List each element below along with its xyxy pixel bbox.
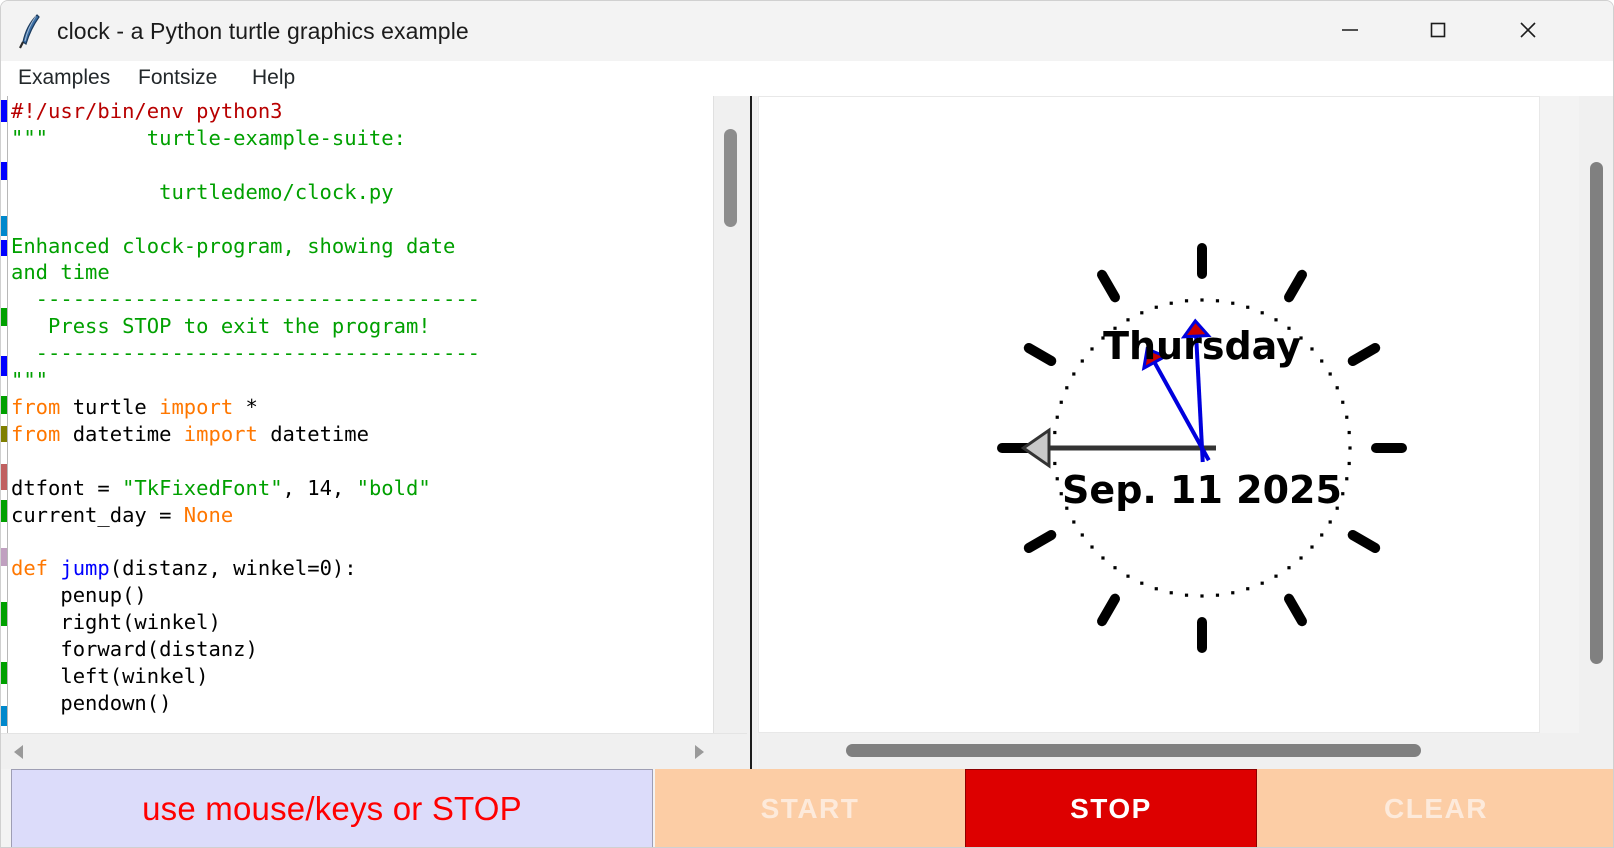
- code-line: [11, 448, 713, 475]
- menu-item-help[interactable]: Help: [252, 66, 295, 90]
- clock-hour-mark: [1353, 535, 1376, 548]
- code-token: *: [233, 395, 258, 419]
- code-token: ------------------------------------: [11, 287, 480, 311]
- clock-hour-mark: [1289, 599, 1302, 622]
- clock-minute-mark: [1246, 306, 1249, 309]
- code-token: penup(): [11, 583, 147, 607]
- clock-minute-mark: [1348, 431, 1351, 434]
- code-token: ------------------------------------: [11, 341, 480, 365]
- code-line: current_day = None: [11, 502, 713, 529]
- clock-minute-mark: [1320, 359, 1323, 362]
- code-token: turtle: [60, 395, 159, 419]
- code-vertical-scrollbar-thumb[interactable]: [724, 129, 737, 227]
- clock-minute-mark: [1140, 582, 1143, 585]
- code-token: "TkFixedFont": [122, 476, 282, 500]
- turtle-canvas-frame[interactable]: Thursday Sep. 11 2025: [758, 96, 1540, 733]
- code-line: def jump(distanz, winkel=0):: [11, 555, 713, 582]
- code-editor[interactable]: #!/usr/bin/env python3""" turtle-example…: [9, 96, 713, 733]
- code-token: forward(distanz): [11, 637, 258, 661]
- splitter-handle[interactable]: [750, 96, 752, 769]
- code-token: and time: [11, 260, 110, 284]
- code-line: Enhanced clock-program, showing date: [11, 233, 713, 260]
- clock-minute-mark: [1231, 591, 1234, 594]
- code-line: """: [11, 367, 713, 394]
- minimize-icon[interactable]: [1319, 1, 1381, 59]
- code-token: Press STOP to exit the program!: [11, 314, 431, 338]
- gutter-mark: [1, 500, 7, 522]
- code-token: import: [184, 422, 258, 446]
- clock-minute-mark: [1274, 575, 1277, 578]
- clock-minute-mark: [1200, 594, 1203, 597]
- clock-hour-mark: [1289, 275, 1302, 298]
- clock-second-hand-tip: [1023, 430, 1049, 466]
- clock-minute-mark: [1060, 401, 1063, 404]
- code-token: from: [11, 395, 60, 419]
- clock-minute-mark: [1155, 306, 1158, 309]
- python-feather-icon: [15, 13, 47, 49]
- menu-item-fontsize[interactable]: Fontsize: [138, 66, 217, 90]
- canvas-vertical-scrollbar[interactable]: [1579, 96, 1614, 733]
- code-token: import: [159, 395, 233, 419]
- title-bar: clock - a Python turtle graphics example: [1, 1, 1614, 61]
- clock-weekday-label: Thursday: [1103, 324, 1301, 368]
- canvas-horizontal-scrollbar[interactable]: [758, 733, 1614, 769]
- code-gutter-strip: [1, 96, 8, 733]
- code-token: datetime: [60, 422, 183, 446]
- code-line: forward(distanz): [11, 636, 713, 663]
- gutter-mark: [1, 464, 7, 490]
- clock-minute-mark: [1246, 587, 1249, 590]
- clock-minute-mark: [1348, 462, 1351, 465]
- code-line: pendown(): [11, 690, 713, 717]
- code-vertical-scrollbar[interactable]: [713, 96, 747, 733]
- code-token: #!/usr/bin/env python3: [11, 99, 283, 123]
- gutter-mark: [1, 706, 7, 726]
- status-bar: use mouse/keys or STOP: [11, 769, 653, 848]
- clock-minute-mark: [1126, 318, 1129, 321]
- clock-minute-mark: [1113, 566, 1116, 569]
- clock-minute-mark: [1053, 431, 1056, 434]
- gutter-mark: [1, 396, 7, 414]
- clock-minute-mark: [1155, 587, 1158, 590]
- status-message: use mouse/keys or STOP: [142, 790, 522, 828]
- clock-minute-mark: [1170, 591, 1173, 594]
- code-line: from datetime import datetime: [11, 421, 713, 448]
- clock-minute-mark: [1261, 582, 1264, 585]
- code-token: """: [11, 368, 48, 392]
- code-token: right(winkel): [11, 610, 221, 634]
- clock-minute-mark: [1126, 575, 1129, 578]
- code-line: ------------------------------------: [11, 340, 713, 367]
- clock-minute-mark: [1185, 594, 1188, 597]
- gutter-mark: [1, 548, 7, 566]
- clock-minute-mark: [1320, 533, 1323, 536]
- code-line: """ turtle-example-suite:: [11, 125, 713, 152]
- clock-minute-mark: [1310, 347, 1313, 350]
- clock-minute-mark: [1345, 477, 1348, 480]
- clock-hour-mark: [1353, 348, 1376, 361]
- code-line: from turtle import *: [11, 394, 713, 421]
- source-code-text: #!/usr/bin/env python3""" turtle-example…: [9, 96, 713, 717]
- clock-minute-mark: [1216, 594, 1219, 597]
- clock-minute-mark: [1072, 520, 1075, 523]
- clear-button[interactable]: CLEAR: [1257, 769, 1614, 848]
- clock-minute-mark: [1065, 386, 1068, 389]
- clock-hour-mark: [1102, 599, 1115, 622]
- code-token: [48, 556, 60, 580]
- code-token: "bold": [357, 476, 431, 500]
- code-line: [11, 152, 713, 179]
- clock-minute-mark: [1341, 401, 1344, 404]
- code-line: [11, 206, 713, 233]
- code-line: left(winkel): [11, 663, 713, 690]
- clock-minute-mark: [1261, 311, 1264, 314]
- clock-minute-mark: [1090, 347, 1093, 350]
- code-line: and time: [11, 259, 713, 286]
- canvas-vertical-scrollbar-thumb[interactable]: [1590, 162, 1603, 664]
- gutter-mark: [1, 662, 7, 684]
- turtle-canvas[interactable]: Thursday Sep. 11 2025: [759, 97, 1539, 732]
- code-line: penup(): [11, 582, 713, 609]
- clock-date-label: Sep. 11 2025: [1062, 468, 1342, 512]
- code-token: (distanz, winkel=0):: [110, 556, 357, 580]
- code-horizontal-scrollbar[interactable]: [1, 733, 747, 769]
- gutter-mark: [1, 308, 7, 326]
- code-line: Press STOP to exit the program!: [11, 313, 713, 340]
- code-token: current_day =: [11, 503, 184, 527]
- clock-minute-mark: [1200, 298, 1203, 301]
- clock-hour-mark: [1102, 275, 1115, 298]
- clock-minute-mark: [1287, 566, 1290, 569]
- clock-minute-mark: [1216, 299, 1219, 302]
- clock-hour-mark: [1029, 535, 1052, 548]
- code-token: """ turtle-example-suite:: [11, 126, 406, 150]
- code-token: , 14,: [283, 476, 357, 500]
- clock-minute-mark: [1170, 302, 1173, 305]
- clock-minute-mark: [1056, 477, 1059, 480]
- pane-splitter[interactable]: [747, 96, 757, 769]
- maximize-icon[interactable]: [1407, 1, 1469, 59]
- code-line: turtledemo/clock.py: [11, 179, 713, 206]
- clock-minute-mark: [1185, 299, 1188, 302]
- code-token: from: [11, 422, 60, 446]
- menu-item-examples[interactable]: Examples: [18, 66, 110, 90]
- code-line: right(winkel): [11, 609, 713, 636]
- clock-minute-mark: [1081, 533, 1084, 536]
- menu-bar: [1, 61, 1614, 96]
- gutter-mark: [1, 240, 7, 256]
- code-token: def: [11, 556, 48, 580]
- code-token: None: [184, 503, 233, 527]
- code-token: datetime: [258, 422, 369, 446]
- clock-minute-mark: [1329, 520, 1332, 523]
- gutter-mark: [1, 100, 7, 122]
- code-token: turtledemo/clock.py: [11, 180, 394, 204]
- clock-minute-mark: [1090, 545, 1093, 548]
- window-title: clock - a Python turtle graphics example: [57, 18, 469, 45]
- clock-minute-mark: [1274, 318, 1277, 321]
- gutter-mark: [1, 426, 7, 442]
- gutter-mark: [1, 162, 7, 180]
- triangle-right-icon[interactable]: [689, 743, 707, 766]
- close-icon[interactable]: [1497, 1, 1559, 59]
- clock-minute-mark: [1348, 446, 1351, 449]
- clock-hour-mark: [1029, 348, 1052, 361]
- code-line: [11, 529, 713, 556]
- gutter-mark: [1, 216, 7, 236]
- clock-minute-mark: [1140, 311, 1143, 314]
- clock-minute-mark: [1081, 359, 1084, 362]
- gutter-mark: [1, 356, 7, 376]
- canvas-horizontal-scrollbar-thumb[interactable]: [846, 744, 1421, 757]
- idle-turtledemo-window: clock - a Python turtle graphics example…: [0, 0, 1614, 848]
- start-button[interactable]: START: [655, 769, 965, 848]
- code-token: Enhanced clock-program, showing date: [11, 234, 455, 258]
- code-token: jump: [60, 556, 109, 580]
- code-line: #!/usr/bin/env python3: [11, 98, 713, 125]
- code-token: left(winkel): [11, 664, 208, 688]
- code-token: pendown(): [11, 691, 171, 715]
- clock-minute-mark: [1231, 302, 1234, 305]
- code-token: dtfont =: [11, 476, 122, 500]
- clock-minute-mark: [1310, 545, 1313, 548]
- clock-minute-mark: [1329, 372, 1332, 375]
- stop-button[interactable]: STOP: [965, 769, 1257, 848]
- code-line: dtfont = "TkFixedFont", 14, "bold": [11, 475, 713, 502]
- clock-minute-mark: [1053, 462, 1056, 465]
- clock-minute-mark: [1056, 416, 1059, 419]
- clock-minute-mark: [1072, 372, 1075, 375]
- gutter-mark: [1, 602, 7, 626]
- clock-minute-mark: [1101, 556, 1104, 559]
- clock-minute-mark: [1336, 386, 1339, 389]
- clock-minute-mark: [1345, 416, 1348, 419]
- triangle-left-icon[interactable]: [11, 743, 29, 766]
- clock-minute-mark: [1299, 556, 1302, 559]
- code-line: ------------------------------------: [11, 286, 713, 313]
